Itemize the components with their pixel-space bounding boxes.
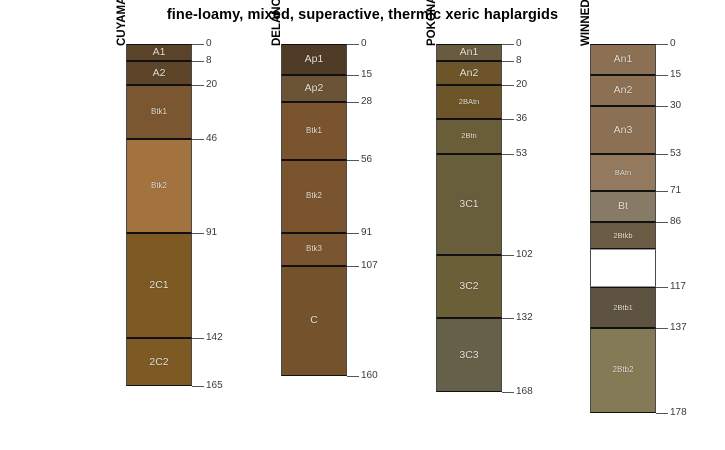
- depth-tick: [347, 44, 359, 45]
- depth-tick: [347, 75, 359, 76]
- profile-site-name: DELANO: [271, 0, 283, 46]
- horizon-label: Btk3: [306, 245, 322, 253]
- depth-tick-label: 28: [361, 96, 372, 107]
- horizon-block: An1: [590, 44, 656, 75]
- depth-tick: [656, 191, 668, 192]
- horizon-label: A1: [153, 47, 166, 58]
- horizon-label: An2: [614, 85, 633, 96]
- horizon-label: 2BAtn: [459, 98, 479, 106]
- depth-tick: [192, 233, 204, 234]
- depth-tick-label: 0: [670, 38, 676, 49]
- depth-tick: [502, 392, 514, 393]
- horizon-block: 3C3: [436, 318, 502, 393]
- horizon-label: Btk1: [151, 108, 167, 116]
- horizon-block: Ap1: [281, 44, 347, 75]
- depth-tick-label: 20: [516, 79, 527, 90]
- depth-tick: [502, 44, 514, 45]
- depth-tick-label: 0: [206, 38, 212, 49]
- depth-tick: [192, 139, 204, 140]
- horizon-label: BAtn: [615, 169, 631, 177]
- chart-title: fine-loamy, mixed, superactive, thermic …: [0, 0, 725, 30]
- depth-tick-label: 117: [670, 281, 686, 292]
- horizon-block: 3C2: [436, 255, 502, 317]
- profile-site-name: POKONAHBE: [426, 0, 438, 46]
- horizon-block: Btk3: [281, 233, 347, 266]
- depth-tick: [656, 106, 668, 107]
- horizon-block: BAtn: [590, 154, 656, 191]
- depth-tick-label: 0: [361, 38, 367, 49]
- profile-site-name: CUYAMA: [116, 0, 128, 46]
- horizon-label: Btk2: [306, 192, 322, 200]
- depth-tick: [502, 85, 514, 86]
- depth-tick: [502, 154, 514, 155]
- horizon-block: An2: [436, 61, 502, 86]
- horizon-label: 3C1: [459, 199, 478, 210]
- depth-tick: [192, 44, 204, 45]
- horizon-label: An2: [460, 68, 479, 79]
- horizon-block: Btk1: [126, 85, 192, 139]
- depth-tick-label: 142: [206, 332, 223, 343]
- horizon-label: 3C3: [459, 350, 478, 361]
- horizon-block: A1: [126, 44, 192, 61]
- horizon-label: 2Btn: [461, 132, 476, 140]
- horizon-block: An1: [436, 44, 502, 61]
- depth-tick-label: 53: [516, 148, 527, 159]
- depth-tick-label: 0: [516, 38, 522, 49]
- depth-tick-label: 91: [361, 227, 372, 238]
- depth-tick: [502, 255, 514, 256]
- depth-tick: [656, 328, 668, 329]
- depth-tick: [347, 376, 359, 377]
- horizon-block: 3C1: [436, 154, 502, 256]
- depth-tick: [192, 61, 204, 62]
- depth-tick: [656, 222, 668, 223]
- depth-tick-label: 91: [206, 227, 217, 238]
- depth-tick-label: 8: [516, 55, 522, 66]
- depth-tick: [347, 266, 359, 267]
- depth-tick: [502, 119, 514, 120]
- depth-tick-label: 168: [516, 386, 533, 397]
- horizon-block: Btk2: [281, 160, 347, 233]
- depth-tick: [656, 44, 668, 45]
- horizon-block: 2BAtn: [436, 85, 502, 118]
- depth-tick-label: 165: [206, 380, 223, 391]
- horizon-block: 2Btn: [436, 119, 502, 154]
- horizon-label: 3C2: [459, 281, 478, 292]
- depth-tick: [192, 338, 204, 339]
- depth-tick: [656, 75, 668, 76]
- horizon-label: Btk1: [306, 127, 322, 135]
- depth-tick: [502, 61, 514, 62]
- horizon-column: An1An22BAtn2Btn3C13C23C3: [436, 44, 502, 392]
- depth-tick: [502, 318, 514, 319]
- depth-tick-label: 86: [670, 216, 681, 227]
- horizon-column: A1A2Btk1Btk22C12C2: [126, 44, 192, 386]
- horizon-block: Btk1: [281, 102, 347, 160]
- depth-tick-label: 15: [670, 69, 681, 80]
- horizon-label: An3: [614, 125, 633, 136]
- horizon-column: An1An2An3BAtnBt2Btkb2Btb12Btb2: [590, 44, 656, 413]
- depth-tick-label: 20: [206, 79, 217, 90]
- horizon-label: Ap2: [305, 83, 324, 94]
- horizon-label: An1: [460, 47, 479, 58]
- depth-tick-label: 8: [206, 55, 212, 66]
- depth-tick-label: 160: [361, 370, 378, 381]
- depth-tick: [656, 413, 668, 414]
- horizon-label: Btk2: [151, 182, 167, 190]
- depth-tick-label: 15: [361, 69, 372, 80]
- horizon-block: Bt: [590, 191, 656, 222]
- depth-tick: [347, 233, 359, 234]
- depth-tick-label: 46: [206, 133, 217, 144]
- horizon-gap: [590, 249, 656, 286]
- depth-tick-label: 132: [516, 312, 533, 323]
- depth-tick-label: 56: [361, 154, 372, 165]
- depth-tick: [656, 287, 668, 288]
- horizon-label: 2Btb2: [613, 366, 634, 374]
- horizon-label: 2C1: [149, 280, 168, 291]
- depth-tick: [192, 85, 204, 86]
- depth-tick: [656, 154, 668, 155]
- horizon-label: A2: [153, 68, 166, 79]
- depth-tick-label: 53: [670, 148, 681, 159]
- horizon-label: 2C2: [149, 357, 168, 368]
- horizon-label: 2Btkb: [613, 232, 632, 240]
- depth-tick-label: 102: [516, 249, 533, 260]
- horizon-block: A2: [126, 61, 192, 86]
- depth-tick-label: 30: [670, 100, 681, 111]
- depth-tick-label: 107: [361, 260, 378, 271]
- horizon-block: 2Btb1: [590, 287, 656, 328]
- horizon-block: 2Btkb: [590, 222, 656, 249]
- horizon-block: 2Btb2: [590, 328, 656, 413]
- horizon-label: 2Btb1: [613, 304, 633, 312]
- depth-tick-label: 36: [516, 113, 527, 124]
- depth-tick-label: 71: [670, 185, 681, 196]
- horizon-block: An3: [590, 106, 656, 154]
- depth-tick: [347, 160, 359, 161]
- horizon-block: 2C1: [126, 233, 192, 339]
- horizon-column: Ap1Ap2Btk1Btk2Btk3C: [281, 44, 347, 376]
- profile-site-name: WINNEDUMAH: [580, 0, 592, 46]
- horizon-label: C: [310, 315, 318, 326]
- depth-tick-label: 137: [670, 322, 687, 333]
- depth-tick-label: 178: [670, 407, 687, 418]
- horizon-label: Ap1: [305, 54, 324, 65]
- horizon-block: An2: [590, 75, 656, 106]
- horizon-block: C: [281, 266, 347, 376]
- depth-tick: [347, 102, 359, 103]
- horizon-label: An1: [614, 54, 633, 65]
- horizon-block: Ap2: [281, 75, 347, 102]
- horizon-block: 2C2: [126, 338, 192, 386]
- horizon-block: Btk2: [126, 139, 192, 232]
- horizon-label: Bt: [618, 201, 628, 212]
- depth-tick: [192, 386, 204, 387]
